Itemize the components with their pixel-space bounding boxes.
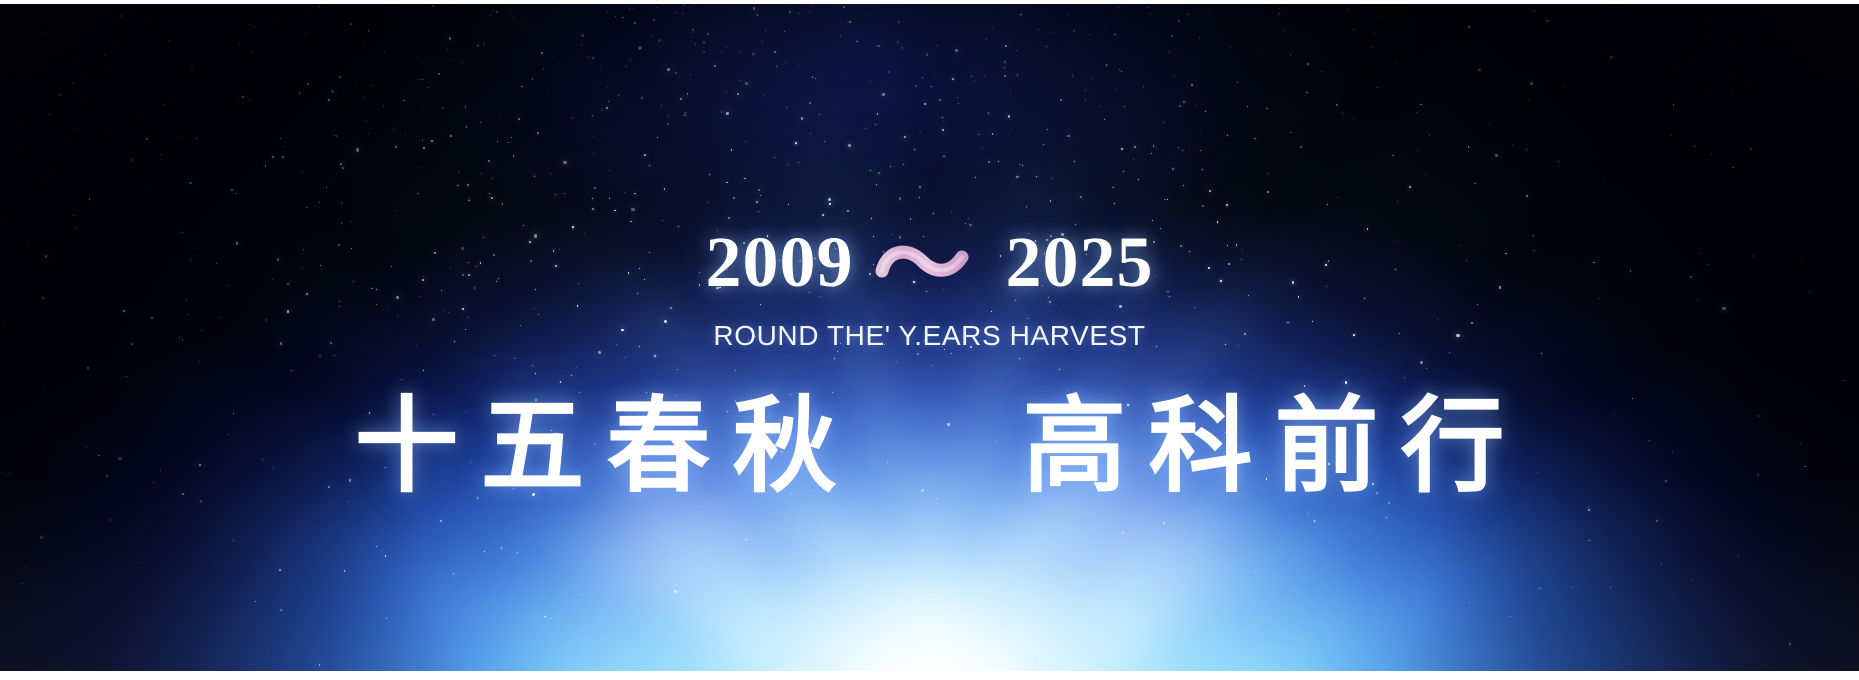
- year-range: 2009 2025: [0, 226, 1859, 298]
- slogan-glyph: 十: [354, 392, 458, 501]
- slogan-glyph: 秋: [732, 392, 836, 501]
- bottom-edge-strip: [0, 671, 1859, 680]
- year-start: 2009: [706, 226, 854, 298]
- chinese-slogan: 十 五 春 秋 高 科 前 行: [0, 392, 1859, 501]
- slogan-glyph: 行: [1401, 392, 1505, 501]
- english-subtitle: ROUND THE' Y.EARS HARVEST: [0, 320, 1859, 352]
- slogan-glyph: 五: [480, 392, 584, 501]
- slogan-glyph: 前: [1275, 392, 1379, 501]
- slogan-glyph: 高: [1023, 392, 1127, 501]
- slogan-phrase-left: 十 五 春 秋: [354, 392, 836, 501]
- anniversary-banner: 2009 2025 ROUND THE': [0, 0, 1859, 680]
- slogan-glyph: 科: [1149, 392, 1253, 501]
- tilde-separator-icon: [876, 234, 984, 296]
- top-edge-strip: [0, 0, 1859, 4]
- slogan-phrase-right: 高 科 前 行: [1023, 392, 1505, 501]
- year-end: 2025: [1006, 226, 1154, 298]
- slogan-glyph: 春: [606, 392, 710, 501]
- banner-content: 2009 2025 ROUND THE': [0, 0, 1859, 680]
